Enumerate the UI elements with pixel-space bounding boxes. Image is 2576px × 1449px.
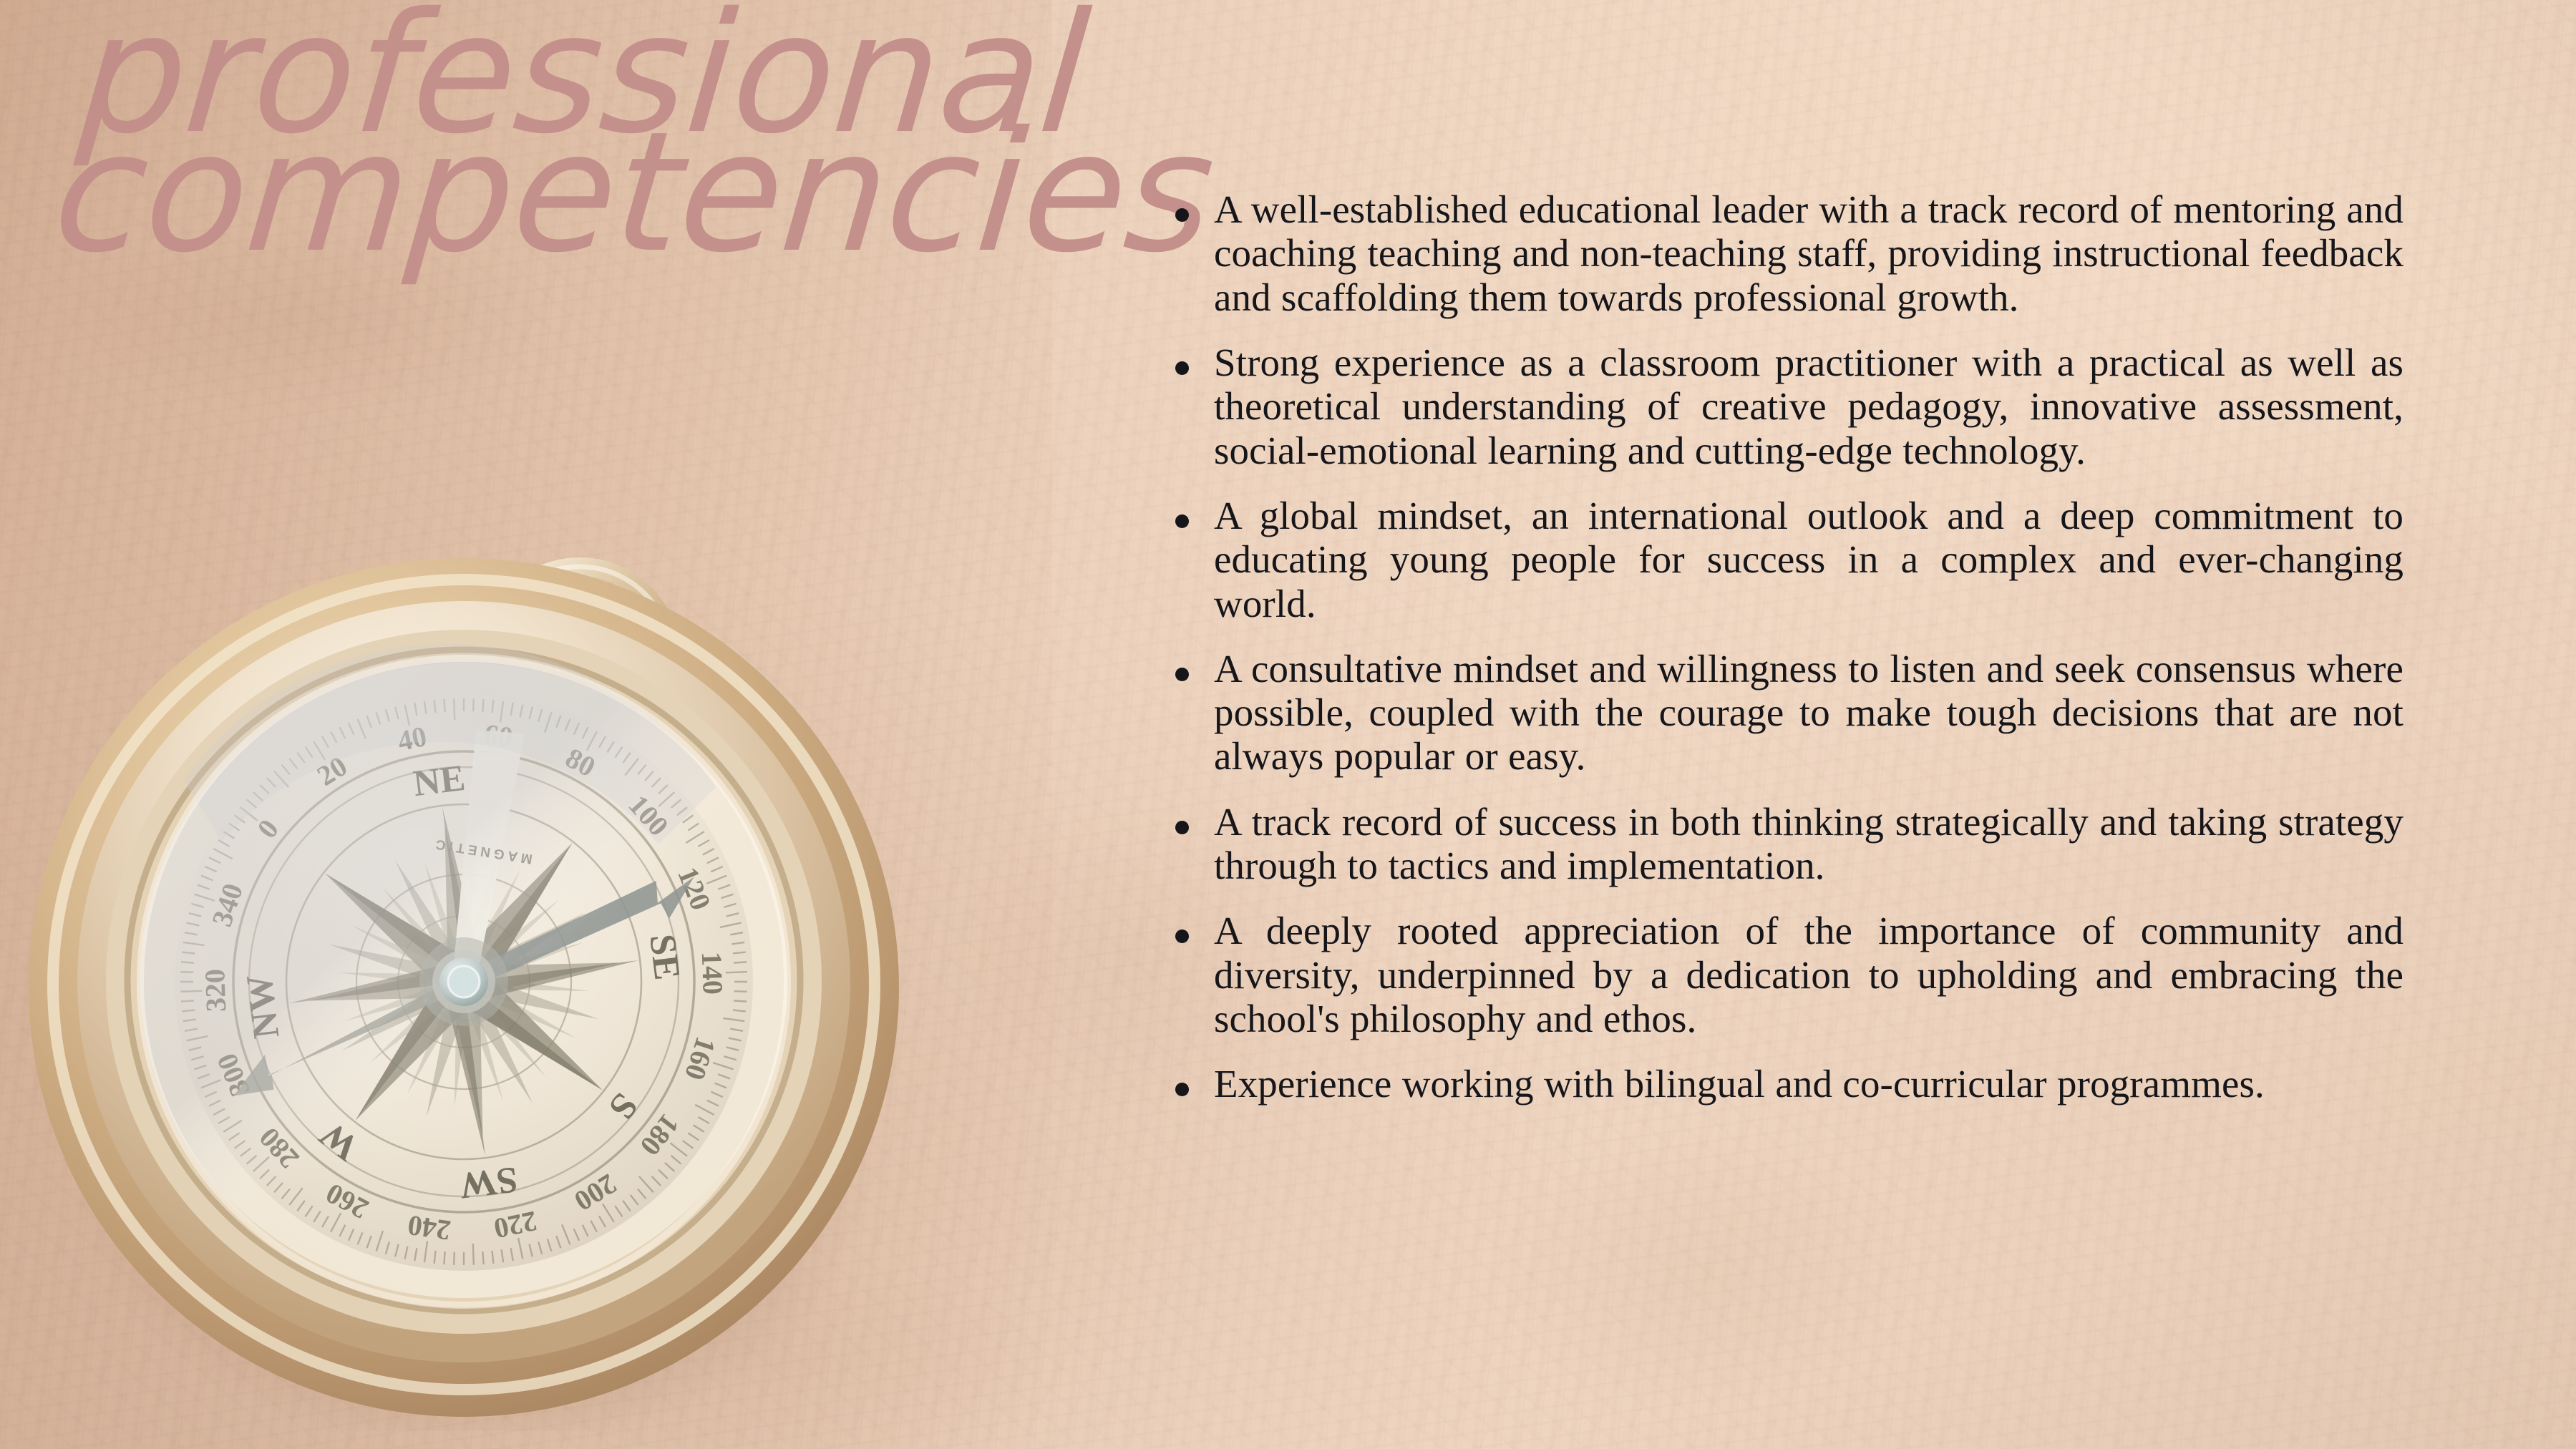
bullet-marker: [1175, 930, 1189, 943]
list-item: Strong experience as a classroom practit…: [1165, 341, 2404, 472]
list-item: A consultative mindset and willingness t…: [1165, 647, 2404, 779]
professional-competencies-list: A well-established educational leader wi…: [1165, 187, 2404, 1106]
list-item: A well-established educational leader wi…: [1165, 187, 2404, 319]
list-item: A global mindset, an international outlo…: [1165, 494, 2404, 625]
bullet-marker: [1175, 208, 1189, 222]
list-item-text: A track record of success in both thinki…: [1214, 800, 2404, 888]
slide-canvas: professional competencies: [0, 0, 2576, 1449]
list-item: A track record of success in both thinki…: [1165, 800, 2404, 888]
list-item-text: Strong experience as a classroom practit…: [1214, 341, 2404, 472]
bullet-marker: [1175, 514, 1189, 528]
bullet-marker: [1175, 821, 1189, 834]
list-item-text: A global mindset, an international outlo…: [1214, 494, 2404, 625]
list-item-text: A deeply rooted appreciation of the impo…: [1214, 909, 2404, 1040]
bullet-marker: [1175, 668, 1189, 681]
list-item: Experience working with bilingual and co…: [1165, 1062, 2404, 1106]
list-item: A deeply rooted appreciation of the impo…: [1165, 909, 2404, 1040]
bullet-marker: [1175, 361, 1189, 375]
page-title-line-2: competencies: [50, 125, 1079, 260]
page-title: professional competencies: [56, 6, 1072, 260]
compass-illustration: 0204060801001201401601802002202402602803…: [14, 444, 959, 1431]
list-item-text: A well-established educational leader wi…: [1214, 187, 2404, 319]
list-item-text: Experience working with bilingual and co…: [1214, 1062, 2404, 1106]
bullet-marker: [1175, 1083, 1189, 1096]
list-item-text: A consultative mindset and willingness t…: [1214, 647, 2404, 779]
